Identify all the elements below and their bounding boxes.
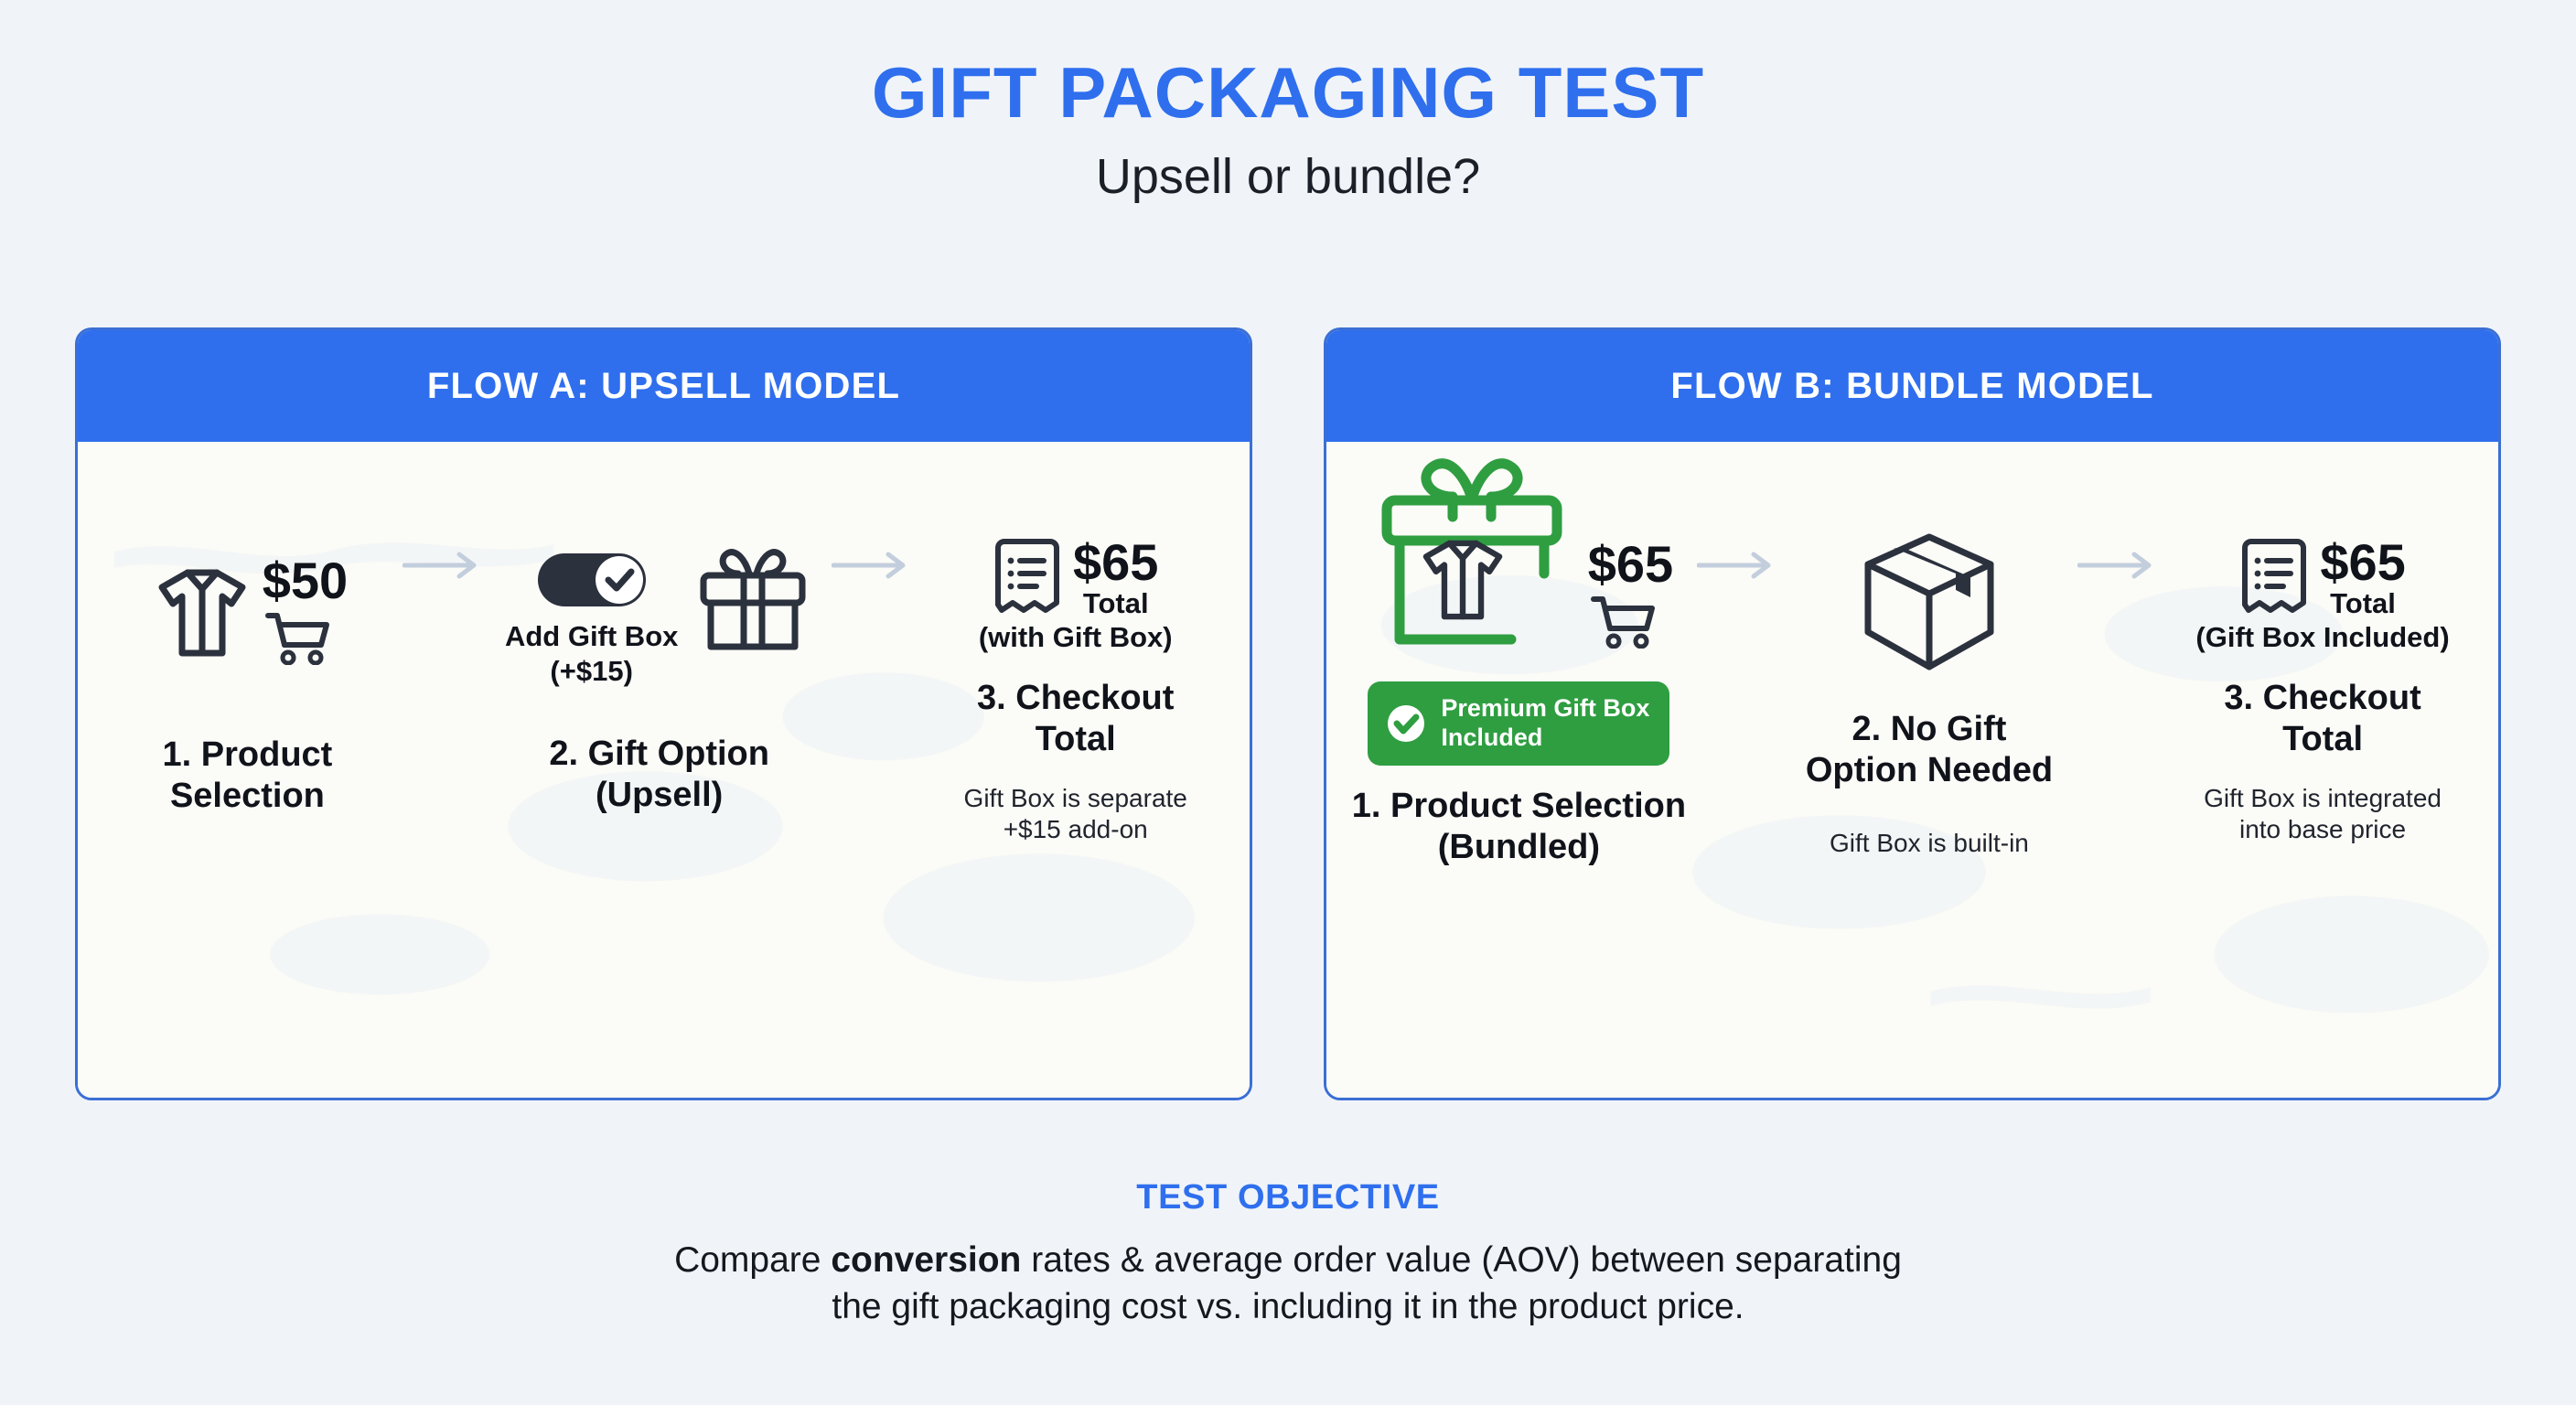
- flow-a-step-3-label-line2: Total: [977, 719, 1174, 760]
- flow-b-header: FLOW B: BUNDLE MODEL: [1326, 330, 2498, 442]
- objective-line1-pre: Compare: [674, 1240, 831, 1280]
- flow-b-step-1-price: $65: [1588, 540, 1673, 588]
- flow-a-step-1-price: $50: [263, 556, 348, 605]
- flow-a-step-3-visual: $65 Total: [993, 537, 1158, 619]
- flow-a-step-1-label-line2: Selection: [163, 776, 333, 817]
- flow-a-step-3-total-paren: (with Gift Box): [979, 621, 1173, 654]
- flow-b-steps: $65: [1326, 442, 2498, 1098]
- flow-a-step-2-label-line2: (Upsell): [549, 775, 769, 816]
- flow-b-step-1: $65: [1350, 442, 1688, 867]
- flow-b-step-3-total: $65 Total: [2320, 537, 2405, 619]
- flow-b-step-2-label-line1: 2. No Gift: [1806, 709, 2053, 750]
- flow-b-step-2-label-line2: Option Needed: [1806, 750, 2053, 791]
- flow-b-header-label: FLOW B: BUNDLE MODEL: [1670, 366, 2153, 407]
- flow-cards: FLOW A: UPSELL MODEL: [75, 327, 2501, 1100]
- flow-a-header: FLOW A: UPSELL MODEL: [78, 330, 1250, 442]
- test-objective-line2: the gift packaging cost vs. including it…: [0, 1283, 2576, 1330]
- badge-line2: Included: [1441, 724, 1649, 753]
- flow-a-step-1-pricecart: $50: [257, 556, 348, 670]
- gift-box-icon: [692, 537, 813, 658]
- flow-a-step-3-total-word: Total: [1073, 588, 1158, 619]
- flow-a-step-2: Add Gift Box (+$15): [496, 442, 823, 816]
- check-circle-icon: [1384, 702, 1428, 745]
- flow-b-step-1-label: 1. Product Selection (Bundled): [1352, 786, 1686, 868]
- flow-a-step-3-label: 3. Checkout Total: [977, 678, 1174, 760]
- receipt-icon: [993, 537, 1062, 619]
- flow-b-step-3-note-line2: into base price: [2204, 814, 2442, 845]
- infographic-page: GIFT PACKAGING TEST Upsell or bundle? FL…: [0, 0, 2576, 1405]
- flow-b-step-3-total-word: Total: [2320, 588, 2405, 619]
- page-title: GIFT PACKAGING TEST: [0, 0, 2576, 128]
- flow-b-step-1-visual: $65: [1365, 458, 1673, 674]
- flow-b-step-3-label-line2: Total: [2224, 719, 2420, 760]
- flow-a-step-3: $65 Total (with Gift Box) 3. Checkout To…: [925, 442, 1226, 845]
- flow-b-step-2: 2. No Gift Option Needed Gift Box is bui…: [1790, 442, 2068, 858]
- page-subtitle: Upsell or bundle?: [0, 152, 2576, 201]
- flow-b-step-2-visual: [1861, 530, 1998, 674]
- flow-a-step-2-visual: Add Gift Box (+$15): [505, 537, 813, 702]
- flow-b-body: $65: [1326, 442, 2498, 1098]
- flow-b-step-3-note: Gift Box is integrated into base price: [2204, 783, 2442, 844]
- flow-b-step-3-label: 3. Checkout Total: [2224, 678, 2420, 760]
- premium-gift-box-badge-text: Premium Gift Box Included: [1441, 694, 1649, 753]
- arrow-right-icon: [402, 550, 487, 581]
- flow-b-step-3-total-paren: (Gift Box Included): [2195, 621, 2449, 654]
- flow-a-body: $50: [78, 442, 1250, 1098]
- receipt-icon: [2239, 537, 2309, 619]
- flow-a-toggle-label-line2: (+$15): [505, 654, 678, 689]
- objective-line1-post: rates & average order value (AOV) betwee…: [1021, 1240, 1902, 1280]
- flow-a-steps: $50: [78, 442, 1250, 1098]
- flow-b-step-2-note-line1: Gift Box is built-in: [1830, 828, 2029, 859]
- flow-a-arrow-1: [393, 550, 496, 581]
- shirt-icon: [147, 562, 257, 664]
- flow-a-step-3-note: Gift Box is separate +$15 add-on: [964, 783, 1187, 844]
- flow-b-step-1-label-line1: 1. Product Selection: [1352, 786, 1686, 827]
- flow-b-step-3-note-line1: Gift Box is integrated: [2204, 783, 2442, 814]
- objective-line1-bold: conversion: [831, 1240, 1021, 1280]
- flow-a-toggle-label: Add Gift Box (+$15): [505, 619, 678, 689]
- test-objective-body: Compare conversion rates & average order…: [0, 1237, 2576, 1331]
- flow-b-step-3-label-line1: 3. Checkout: [2224, 678, 2420, 719]
- flow-a-step-3-note-line1: Gift Box is separate: [964, 783, 1187, 814]
- flow-card-b: FLOW B: BUNDLE MODEL: [1324, 327, 2501, 1100]
- flow-a-step-3-label-line1: 3. Checkout: [977, 678, 1174, 719]
- flow-a-arrow-2: [822, 550, 925, 581]
- shirt-icon: [1412, 533, 1513, 627]
- test-objective-line1: Compare conversion rates & average order…: [0, 1237, 2576, 1283]
- flow-a-toggle-label-line1: Add Gift Box: [505, 619, 678, 654]
- flow-b-step-1-cart-wrap: [1590, 592, 1656, 653]
- premium-gift-box-badge: Premium Gift Box Included: [1368, 681, 1669, 766]
- flow-card-a: FLOW A: UPSELL MODEL: [75, 327, 1252, 1100]
- arrow-right-icon: [2077, 550, 2162, 581]
- flow-a-step-1-label: 1. Product Selection: [163, 735, 333, 817]
- flow-b-step-3: $65 Total (Gift Box Included) 3. Checkou…: [2171, 442, 2474, 845]
- shipping-box-icon: [1861, 530, 1998, 674]
- cart-icon: [264, 608, 330, 665]
- flow-a-header-label: FLOW A: UPSELL MODEL: [427, 366, 900, 407]
- flow-b-arrow-1: [1688, 550, 1790, 581]
- flow-a-step-1-cart-wrap: [264, 608, 330, 670]
- flow-b-arrow-2: [2068, 550, 2171, 581]
- flow-a-step-2-label-line1: 2. Gift Option: [549, 734, 769, 775]
- test-objective-title: TEST OBJECTIVE: [0, 1178, 2576, 1217]
- flow-a-step-2-label: 2. Gift Option (Upsell): [549, 734, 769, 816]
- flow-a-step-1-visual: $50: [147, 544, 348, 681]
- toggle-on-icon[interactable]: [536, 552, 648, 608]
- flow-b-step-3-price: $65: [2320, 537, 2405, 588]
- flow-a-step-3-price: $65: [1073, 537, 1158, 588]
- flow-b-step-3-visual: $65 Total: [2239, 537, 2405, 619]
- flow-a-step-1-label-line1: 1. Product: [163, 735, 333, 776]
- flow-b-step-2-note: Gift Box is built-in: [1830, 828, 2029, 859]
- flow-a-step-1: $50: [102, 442, 393, 817]
- flow-a-step-3-note-line2: +$15 add-on: [964, 814, 1187, 845]
- flow-b-step-2-label: 2. No Gift Option Needed: [1806, 709, 2053, 791]
- arrow-right-icon: [1697, 550, 1781, 581]
- arrow-right-icon: [832, 550, 916, 581]
- badge-line1: Premium Gift Box: [1441, 694, 1649, 724]
- flow-a-step-3-total: $65 Total: [1073, 537, 1158, 619]
- flow-b-step-1-pricecart: $65: [1583, 540, 1673, 653]
- flow-b-step-1-label-line2: (Bundled): [1352, 827, 1686, 868]
- cart-icon: [1590, 592, 1656, 649]
